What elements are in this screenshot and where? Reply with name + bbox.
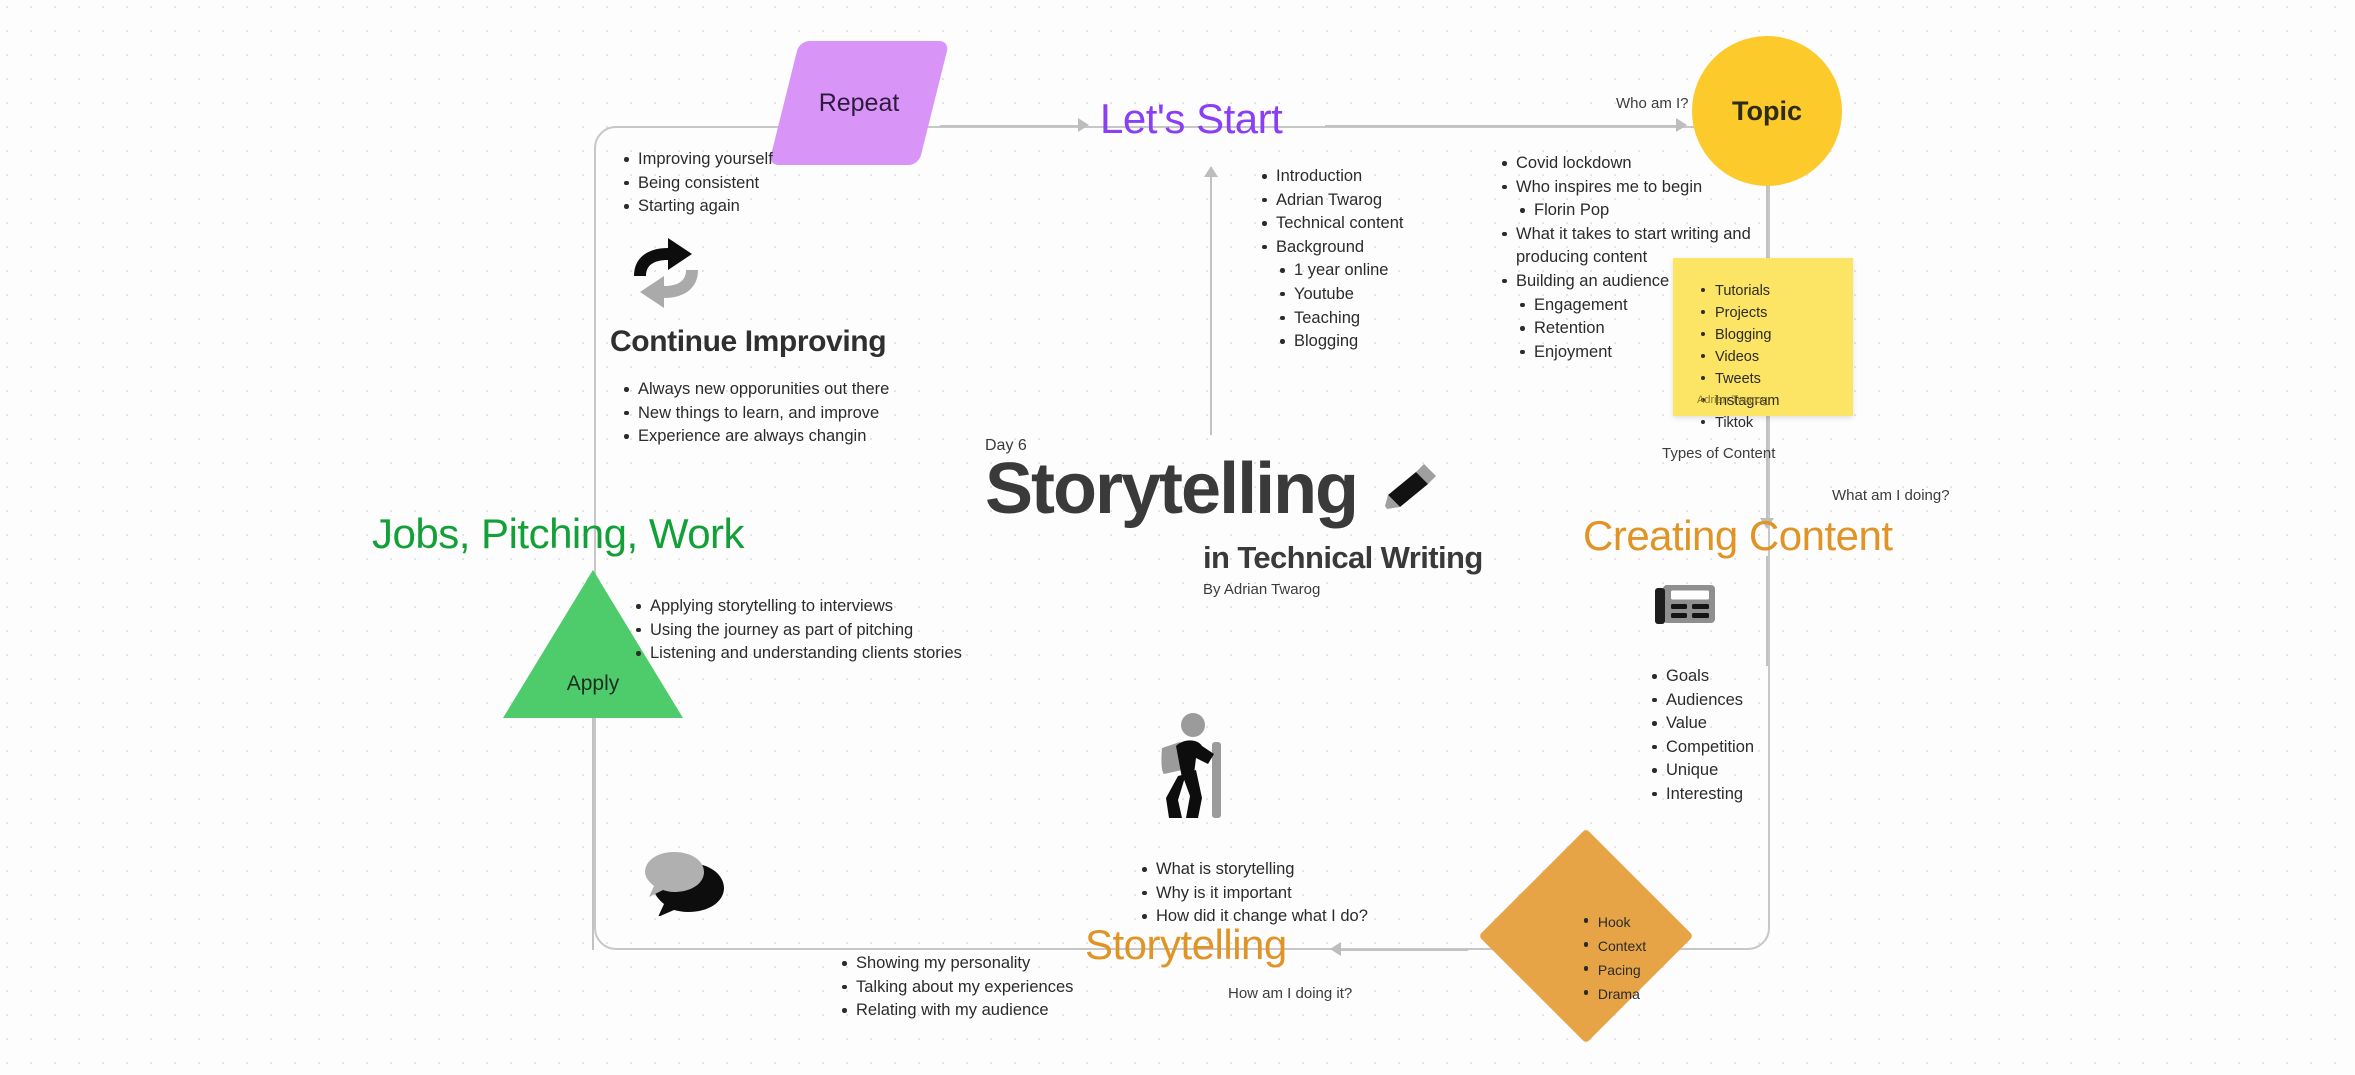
list-item: Unique — [1648, 759, 1948, 783]
list-item: Context — [1580, 934, 1646, 958]
list-item: Blogging — [1697, 324, 1853, 346]
branch-title-jobs-pitching-work: Jobs, Pitching, Work — [372, 510, 744, 558]
branch-title-creating-content: Creating Content — [1583, 512, 1893, 560]
list-item: Experience are always changin — [620, 425, 1000, 449]
list-item: Why is it important — [1138, 882, 1478, 906]
arrowhead-left-storytelling — [1330, 942, 1341, 956]
storytelling-bottom-bullets: What is storytelling Why is it important… — [1138, 858, 1478, 929]
page-title: Storytelling — [985, 453, 1357, 525]
list-item: Tutorials — [1697, 280, 1853, 302]
line-diamond-to-storytelling — [1340, 949, 1468, 951]
continue-improving-top-bullets: Improving yourself Being consistent Star… — [620, 148, 920, 219]
line-topic-to-sticky — [1766, 186, 1768, 258]
line-start-to-topic — [1325, 125, 1680, 127]
list-item: Audiences — [1648, 689, 1948, 713]
list-item: Starting again — [620, 195, 920, 219]
list-item: Showing my personality — [838, 952, 1178, 976]
newspaper-icon — [1654, 582, 1716, 630]
list-item: Who inspires me to begin — [1498, 176, 1798, 200]
edge-label-types-of-content: Types of Content — [1662, 445, 1775, 462]
list-item: How did it change what I do? — [1138, 905, 1478, 929]
page-byline: By Adrian Twarog — [1203, 581, 1320, 598]
mindmap-canvas: Who am I? Let's Start Introduction Adria… — [0, 0, 2355, 1075]
list-item: Drama — [1580, 982, 1646, 1006]
page-subtitle: in Technical Writing — [1203, 540, 1483, 576]
list-item: Improving yourself — [620, 148, 920, 172]
list-item: Tiktok — [1697, 412, 1853, 434]
repeat-arrows-icon — [620, 236, 712, 310]
branch-title-lets-start: Let's Start — [1100, 95, 1282, 143]
list-item: Projects — [1697, 302, 1853, 324]
edge-label-how-am-i-doing-it: How am I doing it? — [1228, 985, 1352, 1002]
hiker-icon — [1152, 712, 1234, 820]
line-repeat-to-start — [940, 125, 1080, 127]
repeat-label: Repeat — [784, 41, 934, 165]
list-item: Goals — [1648, 665, 1948, 689]
list-item: Videos — [1697, 346, 1853, 368]
list-item: Listening and understanding clients stor… — [632, 642, 1032, 666]
list-item: Using the journey as part of pitching — [632, 619, 1032, 643]
list-item: Tweets — [1697, 368, 1853, 390]
list-item: Interesting — [1648, 783, 1948, 807]
sticky-note-author: Adrian Twarog — [1697, 394, 1768, 406]
arrowhead-up-lets-start — [1204, 166, 1218, 177]
list-item: Pacing — [1580, 958, 1646, 982]
arrowhead-to-topic — [1676, 118, 1687, 132]
diamond-bullets: Hook Context Pacing Drama — [1548, 910, 1678, 1006]
list-item: Hook — [1580, 910, 1646, 934]
list-item: New things to learn, and improve — [620, 402, 1000, 426]
list-item: Relating with my audience — [838, 999, 1178, 1023]
list-item: Always new opporunities out there — [620, 378, 1000, 402]
creating-content-bullets: Goals Audiences Value Competition Unique… — [1648, 665, 1948, 807]
list-item: What is storytelling — [1138, 858, 1478, 882]
list-item: Value — [1648, 712, 1948, 736]
section-heading-continue-improving: Continue Improving — [610, 325, 886, 359]
list-item: Talking about my experiences — [838, 976, 1178, 1000]
line-center-to-lets-start — [1210, 175, 1212, 435]
arrowhead-to-lets-start — [1078, 118, 1089, 132]
jobs-pitching-bullets: Applying storytelling to interviews Usin… — [632, 595, 1032, 666]
edge-label-who-am-i: Who am I? — [1616, 95, 1689, 112]
line-creating-content-down — [1766, 556, 1768, 666]
continue-improving-bullets: Always new opporunities out there New th… — [620, 378, 1000, 449]
sticky-note-list: Tutorials Projects Blogging Videos Tweet… — [1697, 280, 1853, 434]
list-item: Being consistent — [620, 172, 920, 196]
edge-label-what-am-i-doing: What am I doing? — [1832, 487, 1950, 504]
list-item: Covid lockdown — [1498, 152, 1798, 176]
center-title-row: Storytelling — [985, 453, 1439, 525]
list-item: Florin Pop — [1516, 199, 1798, 223]
speech-bullets: Showing my personality Talking about my … — [838, 952, 1178, 1023]
pencil-icon — [1383, 461, 1439, 511]
list-item: Applying storytelling to interviews — [632, 595, 1032, 619]
sticky-note-types-of-content[interactable]: Tutorials Projects Blogging Videos Tweet… — [1673, 258, 1853, 416]
list-item: Competition — [1648, 736, 1948, 760]
speech-bubbles-icon — [644, 850, 726, 916]
